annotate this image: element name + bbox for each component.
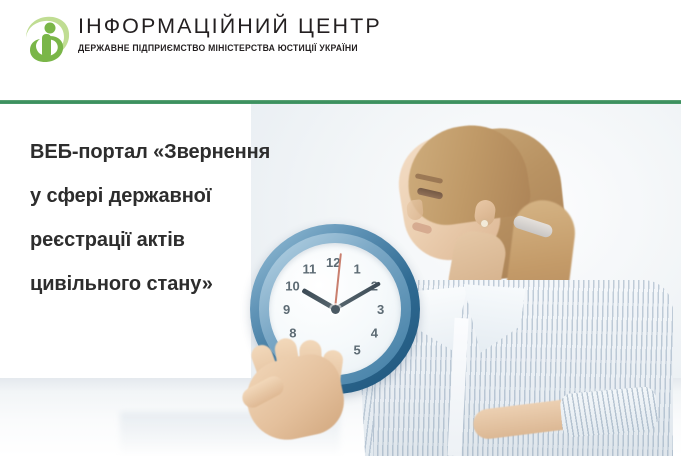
brand-title: ІНФОРМАЦІЙНИЙ ЦЕНТР — [78, 16, 382, 38]
logo-text-block: ІНФОРМАЦІЙНИЙ ЦЕНТР ДЕРЖАВНЕ ПІДПРИЄМСТВ… — [78, 10, 382, 53]
site-header: ІНФОРМАЦІЙНИЙ ЦЕНТР ДЕРЖАВНЕ ПІДПРИЄМСТВ… — [0, 0, 681, 102]
clock-minute-hand — [334, 281, 381, 310]
clock-numeral-9: 9 — [283, 303, 290, 316]
banner-page: ІНФОРМАЦІЙНИЙ ЦЕНТР ДЕРЖАВНЕ ПІДПРИЄМСТВ… — [0, 0, 681, 456]
clock-numeral-1: 1 — [354, 262, 361, 275]
headline-line-1: ВЕБ-портал «Звернення — [30, 142, 330, 162]
sleeve-cuff — [559, 386, 658, 438]
hand-holding-clock — [237, 336, 367, 442]
logo-block[interactable]: ІНФОРМАЦІЙНИЙ ЦЕНТР ДЕРЖАВНЕ ПІДПРИЄМСТВ… — [20, 10, 382, 66]
woman-photo: 123456789101112 — [355, 104, 681, 456]
headline-line-4: цивільного стану» — [30, 274, 330, 294]
brand-subtitle: ДЕРЖАВНЕ ПІДПРИЄМСТВО МІНІСТЕРСТВА ЮСТИЦ… — [78, 44, 364, 53]
clock-center-pin — [331, 305, 340, 314]
clock-numeral-3: 3 — [377, 303, 384, 316]
headline-line-2: у сфері державної — [30, 186, 330, 206]
banner-headline: ВЕБ-портал «Звернення у сфері державної … — [30, 142, 330, 294]
information-center-logo-icon — [20, 12, 72, 66]
clock-numeral-4: 4 — [371, 327, 378, 340]
earring — [481, 220, 488, 227]
headline-line-3: реєстрації актів — [30, 230, 330, 250]
hero-banner: 123456789101112 ВЕБ-портал «Звернення — [0, 104, 681, 456]
